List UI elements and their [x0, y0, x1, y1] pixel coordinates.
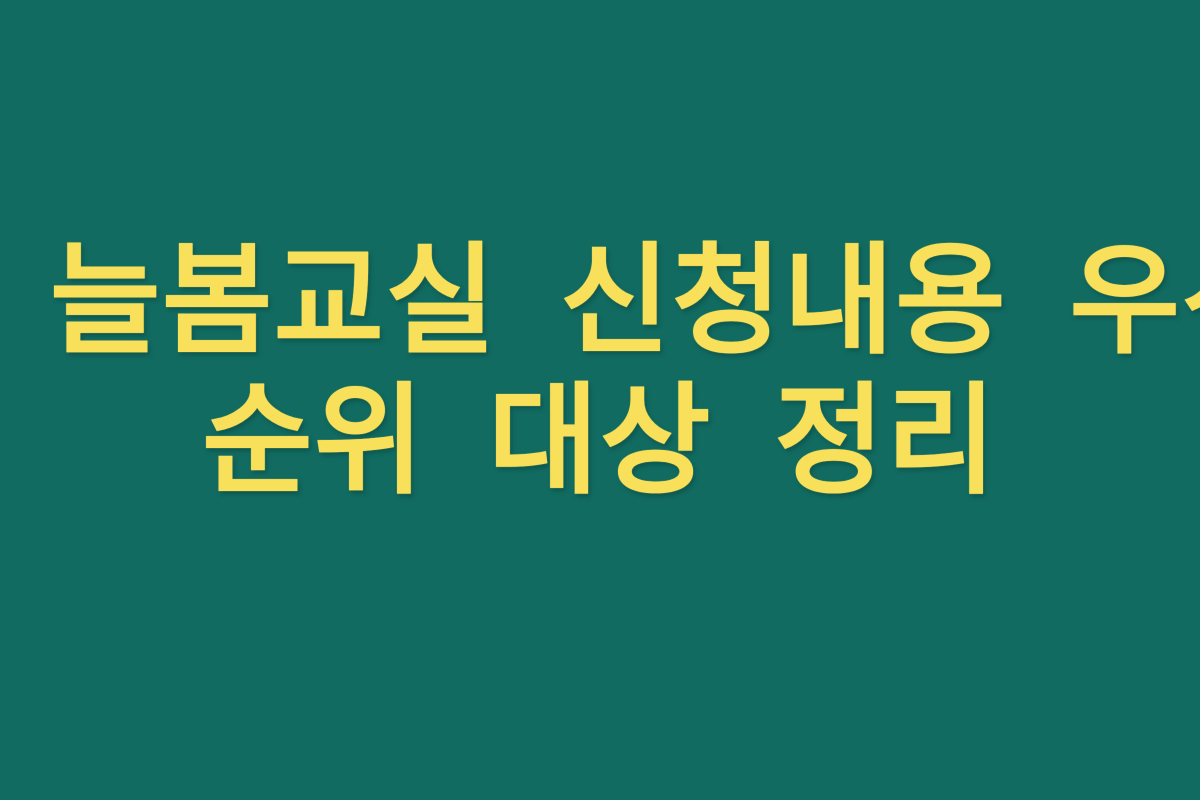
title-line-2: 순위 대상 정리 — [50, 372, 1150, 512]
title-thumbnail-card: 늘봄교실 신청내용 우선 순위 대상 정리 — [0, 0, 1200, 800]
page-title: 늘봄교실 신청내용 우선 순위 대상 정리 — [50, 232, 1150, 512]
title-line-1: 늘봄교실 신청내용 우선 — [50, 232, 1150, 372]
